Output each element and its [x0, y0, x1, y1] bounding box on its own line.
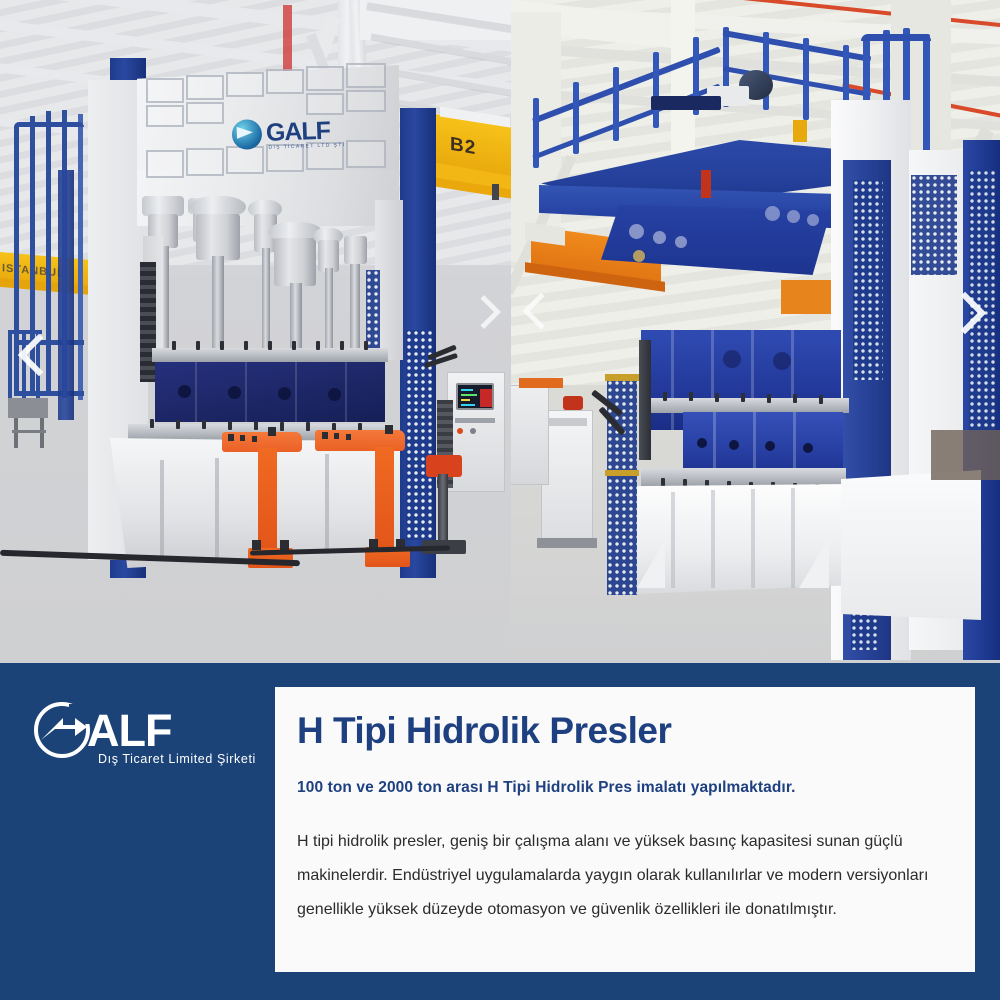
brand-name: ALF [87, 708, 171, 754]
cabinet-base [537, 538, 597, 548]
gallery-slide-right[interactable] [511, 0, 1000, 663]
red-valve [701, 170, 711, 198]
sign-orange [519, 378, 563, 388]
galf-circle-arrow-icon [32, 700, 94, 762]
crane-label-b2: B2 [450, 134, 476, 161]
work-cart [8, 398, 48, 418]
guide-rail [639, 340, 651, 460]
gallery-slide-left[interactable]: B2 ISTANBUL [0, 0, 511, 663]
image-gallery[interactable]: B2 ISTANBUL [0, 0, 1000, 663]
content-card: H Tipi Hidrolik Presler 100 ton ve 2000 … [275, 687, 975, 972]
hmi-screen[interactable] [456, 383, 494, 410]
arrow-glyph [41, 714, 88, 744]
page-title: H Tipi Hidrolik Presler [297, 709, 949, 753]
guard-ladder [140, 262, 156, 382]
press-base-right-side [841, 470, 981, 620]
company-logo[interactable]: ALF Dış Ticaret Limited Şirketi [32, 700, 247, 780]
stand-pole [438, 474, 448, 542]
hydraulic-line [651, 96, 721, 110]
door-frame [605, 374, 639, 381]
brand-tagline: Dış Ticaret Limited Şirketi [98, 752, 256, 766]
electrical-cabinet [511, 385, 549, 485]
crane-hook [492, 184, 499, 200]
page-subtitle: 100 ton ve 2000 ton arası H Tipi Hidroli… [297, 779, 949, 797]
door-frame [605, 470, 639, 476]
upper-bolster [152, 348, 388, 362]
die-lifter-post [258, 448, 277, 553]
background-material [931, 430, 1000, 480]
red-fitting [563, 396, 583, 410]
page-body-text: H tipi hidrolik presler, geniş bir çalış… [297, 825, 949, 927]
yellow-fitting [793, 120, 807, 142]
machine-brand-logo: GALF DIŞ TİCARET LTD ŞTİ [231, 116, 347, 154]
lower-die-plate [683, 412, 843, 474]
page-root: B2 ISTANBUL [0, 0, 1000, 1000]
cage-post [58, 170, 74, 420]
die-lifter-post [375, 447, 394, 553]
perforated-guard [853, 180, 883, 380]
perforated-guard [911, 175, 957, 275]
